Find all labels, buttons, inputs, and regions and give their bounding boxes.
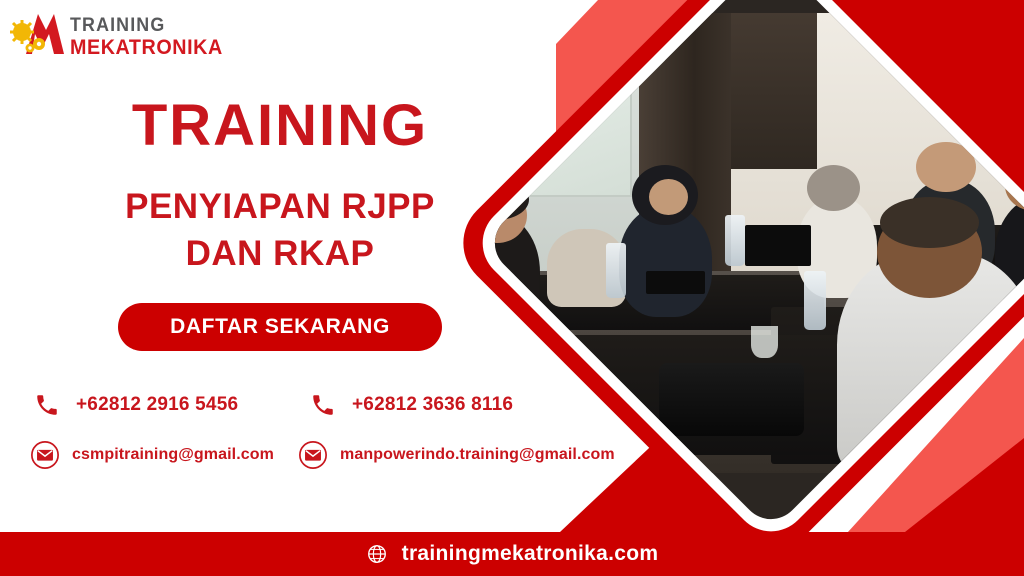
contact-block: +62812 2916 5456 +62812 3636 8116 bbox=[0, 392, 700, 470]
register-button[interactable]: DAFTAR SEKARANG bbox=[118, 303, 442, 351]
globe-icon bbox=[366, 543, 388, 565]
footer-bar: trainingmekatronika.com bbox=[0, 532, 1024, 576]
subtitle-line-1: PENYIAPAN RJPP bbox=[0, 183, 560, 230]
email-address-2: manpowerindo.training@gmail.com bbox=[340, 446, 615, 464]
email-contact-1[interactable]: csmpitraining@gmail.com bbox=[30, 440, 298, 470]
phone-number-2: +62812 3636 8116 bbox=[352, 394, 513, 416]
phone-contact-1[interactable]: +62812 2916 5456 bbox=[34, 392, 310, 418]
headline-block: TRAINING PENYIAPAN RJPP DAN RKAP DAFTAR … bbox=[0, 96, 560, 351]
phone-icon bbox=[310, 392, 336, 418]
phone-contact-2[interactable]: +62812 3636 8116 bbox=[310, 392, 513, 418]
headline-subtitle: PENYIAPAN RJPP DAN RKAP bbox=[0, 183, 560, 278]
brand-logo[interactable]: TRAINING MEKATRONIKA bbox=[8, 8, 208, 62]
phone-number-1: +62812 2916 5456 bbox=[76, 394, 238, 416]
subtitle-line-2: DAN RKAP bbox=[0, 230, 560, 277]
logo-line-2: MEKATRONIKA bbox=[70, 37, 223, 58]
email-contact-2[interactable]: manpowerindo.training@gmail.com bbox=[298, 440, 615, 470]
page-title: TRAINING bbox=[0, 96, 560, 157]
envelope-icon bbox=[30, 440, 60, 470]
cta-row: DAFTAR SEKARANG bbox=[0, 303, 560, 351]
email-row: csmpitraining@gmail.com manpowerindo.tra… bbox=[0, 440, 700, 470]
phone-row: +62812 2916 5456 +62812 3636 8116 bbox=[0, 392, 700, 418]
envelope-icon bbox=[298, 440, 328, 470]
website-url[interactable]: trainingmekatronika.com bbox=[402, 542, 659, 566]
phone-icon bbox=[34, 392, 60, 418]
email-address-1: csmpitraining@gmail.com bbox=[72, 446, 274, 464]
promotional-banner: TRAINING MEKATRONIKA TRAINING PENYIAPAN … bbox=[0, 0, 1024, 576]
logo-line-1: TRAINING bbox=[70, 16, 223, 35]
gear-m-logo-icon bbox=[8, 8, 68, 60]
